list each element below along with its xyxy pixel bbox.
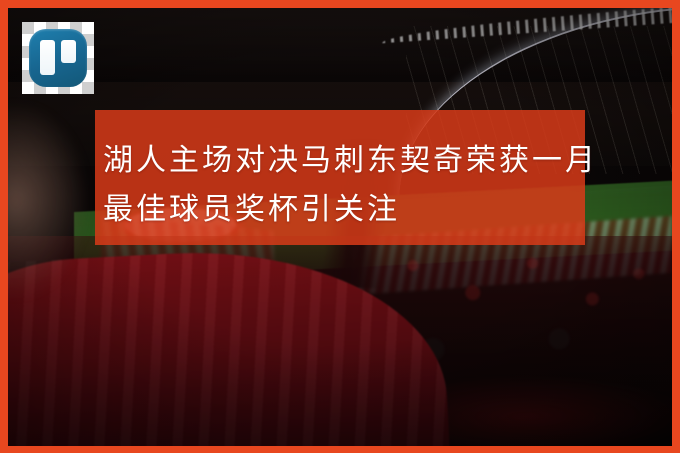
title-line-2: 最佳球员奖杯引关注: [103, 185, 569, 234]
trello-logo-badge: [22, 22, 94, 94]
title-line-1: 湖人主场对决马刺东契奇荣获一月: [103, 136, 569, 185]
trello-bar-right-icon: [61, 40, 76, 63]
trello-bar-left-icon: [40, 40, 55, 75]
trello-logo-icon: [29, 29, 87, 87]
poster-frame: 湖人主场对决马刺东契奇荣获一月 最佳球员奖杯引关注: [0, 0, 680, 453]
title-banner: 湖人主场对决马刺东契奇荣获一月 最佳球员奖杯引关注: [95, 110, 585, 245]
poster-inner: 湖人主场对决马刺东契奇荣获一月 最佳球员奖杯引关注: [8, 8, 672, 446]
